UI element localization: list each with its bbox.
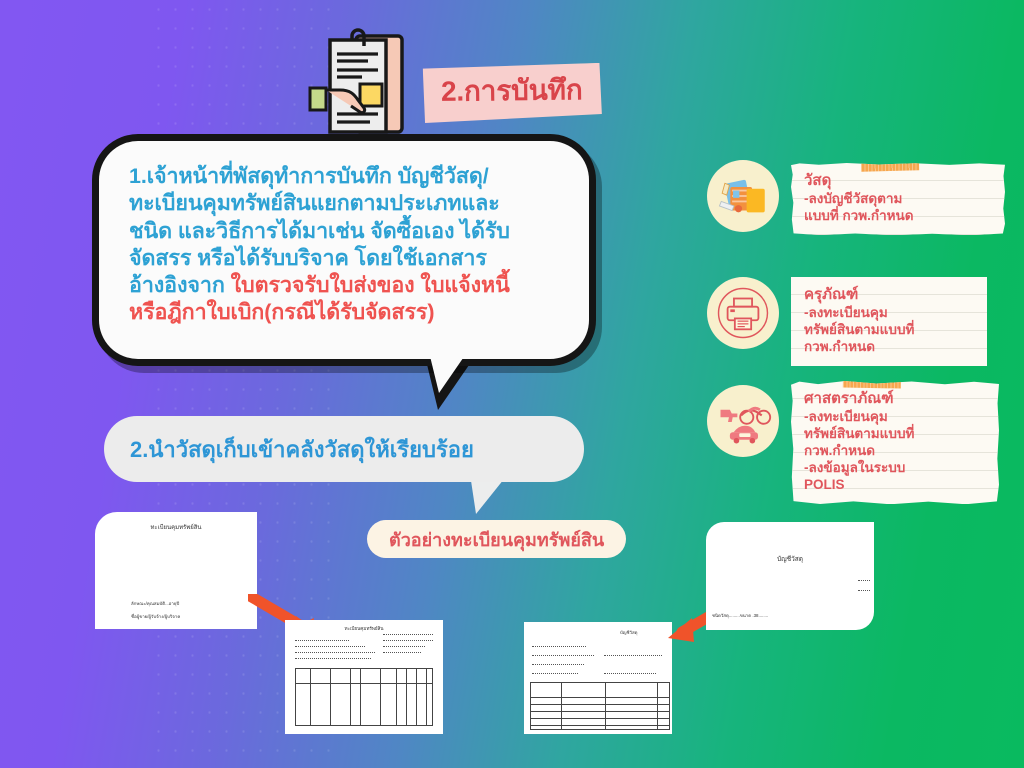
printer-icon bbox=[707, 277, 779, 349]
document-asset-register: ทะเบียนคุมทรัพย์สิน ลักษณะ/คุณสมบัติ...อ… bbox=[95, 512, 257, 629]
tape-strip bbox=[861, 153, 919, 172]
page-title: 2.การบันทึก bbox=[422, 63, 602, 123]
form-table bbox=[530, 682, 670, 730]
example-register-label: ตัวอย่างทะเบียนคุมทรัพย์สิน bbox=[367, 520, 626, 558]
weapons-vehicles-icon bbox=[707, 385, 779, 457]
clipboard-hand-icon bbox=[304, 26, 412, 144]
note-durable-goods: ครุภัณฑ์ -ลงทะเบียนคุม ทรัพย์สินตามแบบที… bbox=[791, 277, 987, 366]
art-supplies-icon bbox=[707, 160, 779, 232]
card-materials: วัสดุ -ลงบัญชีวัสดุตาม แบบที่ กวพ.กำหนด bbox=[707, 160, 1007, 255]
speech-bubble-step2: 2.นำวัสดุเก็บเข้าคลังวัสดุให้เรียบร้อย bbox=[104, 416, 584, 482]
speech-bubble-step1: 1.เจ้าหน้าที่พัสดุทำการบันทึก บัญชีวัสดุ… bbox=[92, 134, 596, 366]
bubble-tail-inner bbox=[428, 348, 470, 393]
note-materials: วัสดุ -ลงบัญชีวัสดุตาม แบบที่ กวพ.กำหนด bbox=[791, 163, 1005, 235]
document-form-left: ทะเบียนคุมทรัพย์สิน bbox=[285, 620, 443, 734]
card-durable-goods: ครุภัณฑ์ -ลงทะเบียนคุม ทรัพย์สินตามแบบที… bbox=[707, 277, 1007, 377]
card-weapons: ศาสตราภัณฑ์ -ลงทะเบียนคุม ทรัพย์สินตามแบ… bbox=[707, 385, 1007, 510]
title-group: 2.การบันทึก bbox=[300, 22, 640, 144]
document-material-account: บัญชีวัสดุ ชนิดวัสดุ.........ขนาด .38...… bbox=[706, 522, 874, 630]
step1-text: 1.เจ้าหน้าที่พัสดุทำการบันทึก บัญชีวัสดุ… bbox=[129, 163, 569, 327]
note-weapons: ศาสตราภัณฑ์ -ลงทะเบียนคุม ทรัพย์สินตามแบ… bbox=[791, 381, 999, 504]
step2-text: 2.นำวัสดุเก็บเข้าคลังวัสดุให้เรียบร้อย bbox=[130, 432, 474, 467]
form-table bbox=[295, 668, 433, 726]
document-form-right: บัญชีวัสดุ bbox=[524, 622, 672, 734]
